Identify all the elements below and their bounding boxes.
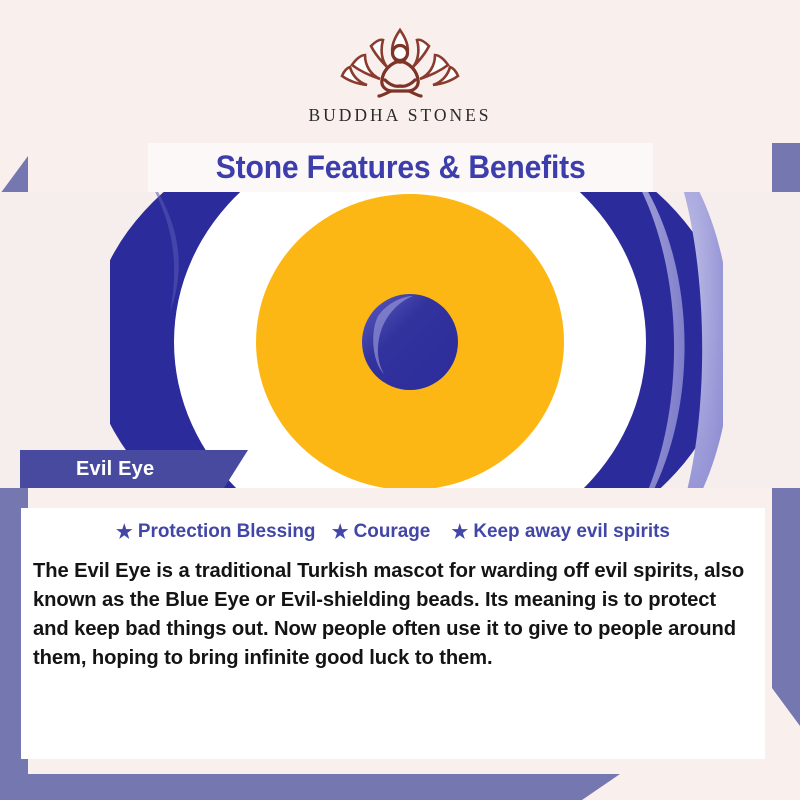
stone-name-banner: Evil Eye	[20, 450, 248, 488]
page-title-band: Stone Features & Benefits	[148, 143, 653, 192]
evil-eye-bead-graphic	[110, 192, 723, 488]
lotus-meditation-icon	[325, 22, 475, 102]
stone-name-label: Evil Eye	[76, 458, 154, 481]
feature-item-1: Courage	[354, 520, 431, 542]
feature-list: ★ Protection Blessing ★ Courage ★ Keep a…	[32, 520, 754, 544]
brand-header: BUDDHA STONES	[0, 0, 800, 143]
page-title: Stone Features & Benefits	[216, 149, 586, 186]
stone-description: The Evil Eye is a traditional Turkish ma…	[33, 556, 748, 672]
feature-item-0: Protection Blessing	[138, 520, 316, 542]
brand-name: BUDDHA STONES	[308, 105, 491, 126]
infographic-page: BUDDHA STONES Stone Features & Benefits	[0, 0, 800, 800]
star-icon: ★	[452, 521, 469, 544]
hero-left-margin	[0, 192, 110, 488]
feature-item-2: Keep away evil spirits	[473, 520, 670, 542]
hero-right-margin	[723, 192, 800, 488]
hero-image-evil-eye	[110, 192, 723, 488]
frame-accent-bottom	[0, 774, 620, 800]
star-icon: ★	[116, 521, 133, 544]
content-card: ★ Protection Blessing ★ Courage ★ Keep a…	[21, 508, 765, 759]
brand-logo: BUDDHA STONES	[0, 22, 800, 126]
star-icon: ★	[332, 521, 349, 544]
